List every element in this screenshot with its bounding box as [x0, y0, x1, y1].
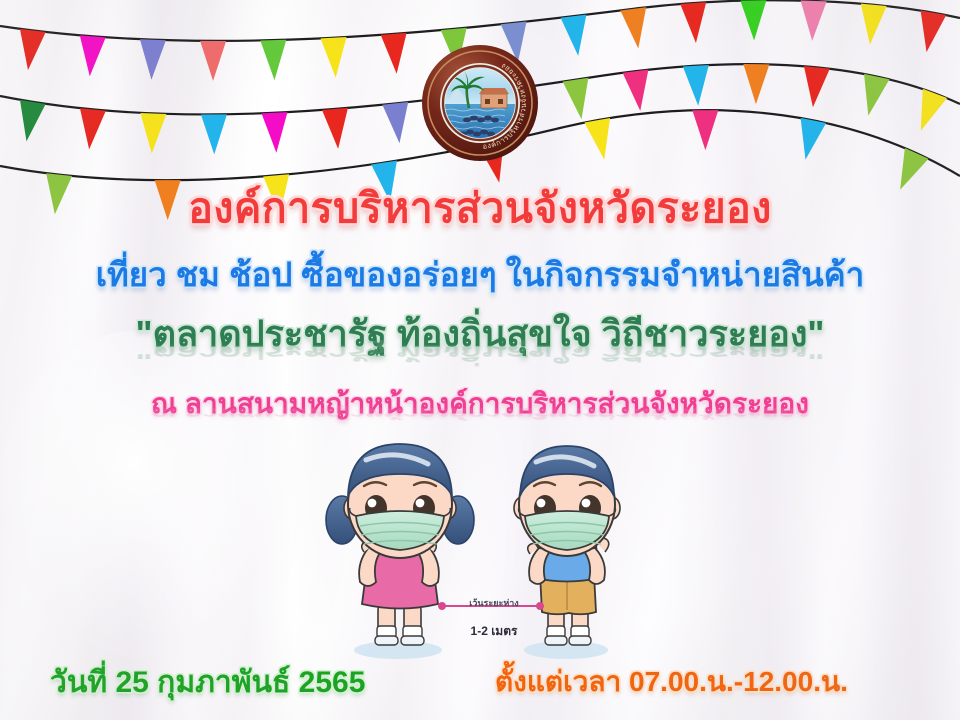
- bunting-flag: [856, 74, 890, 119]
- subtitle-text: เที่ยว ชม ช้อป ซื้อของอร่อยๆ ในกิจกรรมจำ…: [0, 258, 960, 291]
- bunting-flag: [321, 37, 349, 78]
- bunting-flag: [793, 118, 826, 162]
- bunting-flag: [561, 15, 592, 58]
- bunting-flag: [563, 78, 595, 121]
- bunting-flag: [201, 114, 227, 154]
- distance-value: 1-2 เมตร: [434, 622, 554, 641]
- bunting-flag: [138, 39, 165, 80]
- bunting-flag: [260, 40, 287, 81]
- organization-title: องค์การบริหารส่วนจังหวัดระยอง: [0, 188, 960, 229]
- bunting-flag: [77, 35, 106, 77]
- bunting-flag: [200, 41, 226, 81]
- venue-text-reflection: ณ ลานสนามหญ้าหน้าองค์การบริหารส่วนจังหวั…: [0, 406, 960, 420]
- bunting-flag: [800, 66, 830, 108]
- bunting-flag: [914, 10, 946, 54]
- bunting-flag: [382, 102, 412, 144]
- bunting-flag: [139, 113, 167, 154]
- event-date: วันที่ 25 กุมภาพันธ์ 2565: [50, 668, 365, 698]
- bunting-flag: [620, 7, 651, 50]
- bunting-flag: [584, 118, 617, 162]
- bunting-flag: [799, 0, 826, 41]
- event-time: ตั้งแต่เวลา 07.00.น.-12.00.น.: [495, 668, 848, 696]
- bunting-flag: [623, 70, 654, 113]
- bunting-flag: [76, 108, 106, 150]
- distance-label: เว้นระยะห่าง: [434, 596, 554, 610]
- cloth-fold: [0, 330, 300, 660]
- bunting-flag: [743, 64, 769, 104]
- rayong-pao-seal-logo: องค์การบริหารส่วนจังหวัดระยอง: [421, 44, 539, 162]
- bunting-flag: [381, 33, 410, 75]
- bunting-flag: [683, 65, 711, 106]
- bunting-flag: [740, 0, 767, 40]
- bunting-flag: [857, 4, 887, 46]
- girl-shadow: [354, 641, 442, 659]
- bunting-flag: [322, 108, 351, 150]
- bunting-flag: [262, 112, 290, 153]
- bunting-flag: [15, 29, 46, 72]
- bunting-flag: [14, 100, 46, 144]
- bunting-flag: [692, 110, 718, 150]
- event-name-reflection: "ตลาดประชารัฐ ท้องถิ่นสุขใจ วิถีชาวระยอง…: [0, 342, 960, 362]
- poster-canvas: องค์การบริหารส่วนจังหวัดระยอง องค์การบริ…: [0, 0, 960, 720]
- bunting-flag: [680, 2, 709, 44]
